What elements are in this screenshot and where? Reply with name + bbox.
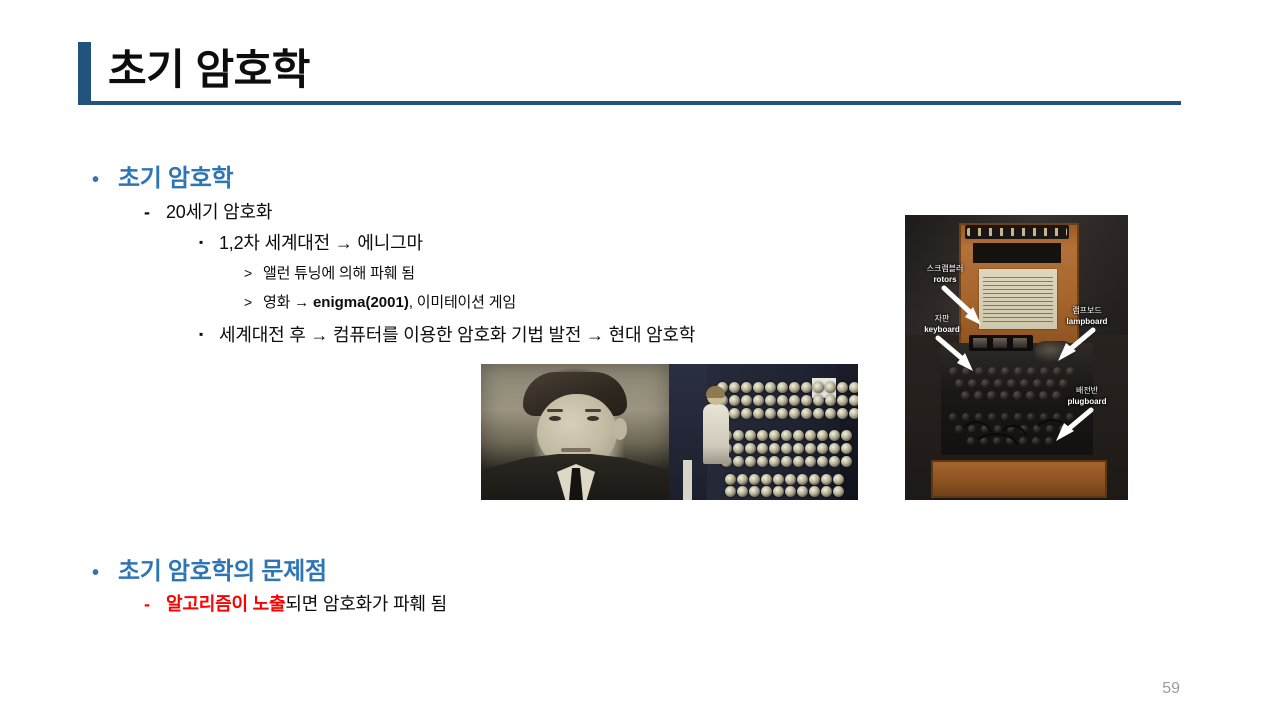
bombe-drum bbox=[829, 456, 840, 467]
enigma-key bbox=[968, 379, 977, 388]
bombe-drum bbox=[825, 408, 836, 419]
enigma-key bbox=[1007, 379, 1016, 388]
bombe-drum bbox=[793, 456, 804, 467]
annotation-keyboard: 자판 keyboard bbox=[905, 313, 983, 335]
outline-item-label: 초기 암호학 bbox=[118, 165, 233, 192]
image-bombe-machine bbox=[669, 364, 858, 500]
bombe-drum bbox=[801, 395, 812, 406]
enigma-rotor-3 bbox=[1013, 338, 1027, 348]
enigma-lid-black-panel bbox=[973, 243, 1061, 263]
enigma-instruction-text bbox=[983, 277, 1053, 325]
bombe-drum bbox=[789, 382, 800, 393]
enigma-key bbox=[988, 367, 997, 376]
bombe-drum bbox=[797, 486, 808, 497]
bombe-drum bbox=[773, 486, 784, 497]
enigma-front-wood-panel bbox=[931, 460, 1107, 498]
enigma-plug-socket bbox=[1001, 413, 1009, 421]
annotation-rotors-en: rotors bbox=[905, 274, 987, 285]
bombe-drum bbox=[817, 443, 828, 454]
enigma-key bbox=[1013, 391, 1022, 400]
bombe-drum bbox=[841, 443, 852, 454]
outline-item-l3-world-wars-enigma: ▪1,2차 세계대전 → 에니그마 bbox=[199, 232, 423, 255]
arrow-to-keyboard-icon bbox=[935, 335, 979, 373]
bombe-drum bbox=[769, 456, 780, 467]
enigma-plug-socket bbox=[975, 413, 983, 421]
outline-item-l1-early-crypto-problem: •초기 암호학의 문제점 bbox=[92, 557, 327, 587]
bombe-drum bbox=[849, 382, 858, 393]
bombe-drum bbox=[817, 456, 828, 467]
bombe-drum bbox=[829, 443, 840, 454]
bombe-drum bbox=[801, 382, 812, 393]
bombe-drum bbox=[829, 430, 840, 441]
enigma-key bbox=[955, 379, 964, 388]
enigma-key bbox=[961, 391, 970, 400]
bombe-drum bbox=[741, 395, 752, 406]
annotation-lampboard: 램프보드 lampboard bbox=[1044, 305, 1128, 327]
outline-item-l2-20c-encryption: -20세기 암호화 bbox=[144, 201, 272, 224]
enigma-key bbox=[1066, 367, 1075, 376]
bullet-dash-icon: - bbox=[144, 593, 166, 616]
bombe-drum bbox=[781, 443, 792, 454]
outline-item-label-prefix: 영화 → bbox=[263, 294, 313, 311]
bullet-square-icon: ▪ bbox=[199, 327, 219, 342]
portrait-ear bbox=[613, 418, 627, 440]
bombe-drum bbox=[777, 382, 788, 393]
outline-item-label: 초기 암호학의 문제점 bbox=[118, 558, 327, 585]
enigma-key bbox=[1020, 379, 1029, 388]
bombe-drum bbox=[761, 486, 772, 497]
portrait-brow-left bbox=[547, 409, 563, 412]
bombe-drum bbox=[821, 474, 832, 485]
outline-item-l1-early-crypto: •초기 암호학 bbox=[92, 164, 233, 194]
bombe-drum bbox=[797, 474, 808, 485]
enigma-plug-socket bbox=[1014, 413, 1022, 421]
outline-item-label-suffix: , 이미테이션 게임 bbox=[409, 294, 516, 311]
enigma-plug-socket bbox=[1027, 413, 1035, 421]
bombe-drum bbox=[813, 408, 824, 419]
bombe-drum bbox=[821, 486, 832, 497]
bombe-drum bbox=[837, 395, 848, 406]
bombe-drum bbox=[725, 474, 736, 485]
annotation-lampboard-en: lampboard bbox=[1044, 316, 1128, 327]
bombe-drum bbox=[757, 456, 768, 467]
outline-item-l4-movies: >영화 → enigma(2001), 이미테이션 게임 bbox=[244, 294, 516, 313]
bombe-stand bbox=[683, 460, 692, 500]
bombe-drum bbox=[813, 395, 824, 406]
bombe-drum bbox=[745, 456, 756, 467]
enigma-lid-contacts bbox=[967, 228, 1067, 236]
bombe-drum bbox=[733, 430, 744, 441]
enigma-key bbox=[981, 379, 990, 388]
bombe-drum bbox=[781, 456, 792, 467]
outline-item-label: 20세기 암호화 bbox=[166, 202, 272, 222]
bombe-drum bbox=[805, 456, 816, 467]
bullet-dash-icon: - bbox=[144, 201, 166, 224]
bombe-drum bbox=[773, 474, 784, 485]
bombe-drum bbox=[801, 408, 812, 419]
bullet-square-icon: ▪ bbox=[199, 235, 219, 250]
image-enigma-machine: 스크램블러 rotors 자판 keyboard 램프보드 lampboard … bbox=[905, 215, 1128, 500]
bombe-drum bbox=[741, 382, 752, 393]
enigma-plug-socket bbox=[962, 413, 970, 421]
bombe-drum bbox=[789, 395, 800, 406]
bombe-drum bbox=[805, 443, 816, 454]
bombe-drum bbox=[817, 430, 828, 441]
outline-item-label: 1,2차 세계대전 → 에니그마 bbox=[219, 233, 423, 253]
bombe-drum bbox=[741, 408, 752, 419]
bombe-drum bbox=[745, 430, 756, 441]
outline-item-l3-postwar-modern-crypto: ▪세계대전 후 → 컴퓨터를 이용한 암호화 기법 발전 → 현대 암호학 bbox=[199, 324, 695, 347]
enigma-rotor-2 bbox=[993, 338, 1007, 348]
arrow-to-lampboard-icon bbox=[1054, 327, 1096, 363]
outline-item-l4-broken-by-turing: >앨런 튜닝에 의해 파훼 됨 bbox=[244, 265, 415, 284]
bombe-drum bbox=[765, 395, 776, 406]
bombe-drum bbox=[785, 486, 796, 497]
bombe-drum bbox=[757, 443, 768, 454]
bullet-dot-icon: • bbox=[92, 168, 118, 193]
bombe-drum bbox=[769, 430, 780, 441]
outline-item-label: 앨런 튜닝에 의해 파훼 됨 bbox=[263, 265, 415, 282]
portrait-brow-right bbox=[585, 409, 601, 412]
bombe-drum bbox=[833, 486, 844, 497]
enigma-key bbox=[1001, 367, 1010, 376]
enigma-key bbox=[1014, 367, 1023, 376]
image-alan-turing-portrait bbox=[481, 364, 669, 500]
annotation-keyboard-ko: 자판 bbox=[905, 313, 983, 324]
outline-item-label: 세계대전 후 → 컴퓨터를 이용한 암호화 기법 발전 → 현대 암호학 bbox=[219, 325, 695, 345]
bombe-drum bbox=[765, 382, 776, 393]
bombe-drum bbox=[733, 443, 744, 454]
bombe-drum bbox=[789, 408, 800, 419]
bombe-operator bbox=[703, 388, 733, 474]
bombe-drum bbox=[805, 430, 816, 441]
bombe-drum bbox=[753, 408, 764, 419]
bombe-drum bbox=[833, 474, 844, 485]
bombe-drum bbox=[793, 430, 804, 441]
bombe-drum bbox=[745, 443, 756, 454]
operator-hair bbox=[706, 386, 725, 398]
enigma-key bbox=[1040, 367, 1049, 376]
portrait-eye-right bbox=[587, 416, 599, 421]
outline-item-label-emphasis: 알고리즘이 노출 bbox=[166, 594, 285, 614]
enigma-key bbox=[974, 391, 983, 400]
enigma-plug-socket bbox=[988, 413, 996, 421]
bombe-drum bbox=[749, 474, 760, 485]
bullet-angle-icon: > bbox=[244, 265, 263, 283]
bombe-drum bbox=[793, 443, 804, 454]
page-number: 59 bbox=[1162, 680, 1180, 698]
bullet-dot-icon: • bbox=[92, 561, 118, 586]
outline-item-label-emphasis: enigma(2001) bbox=[313, 294, 409, 311]
bombe-drum bbox=[785, 474, 796, 485]
bombe-drum bbox=[781, 430, 792, 441]
bombe-drum bbox=[825, 382, 836, 393]
bombe-drum bbox=[733, 456, 744, 467]
bombe-drum bbox=[813, 382, 824, 393]
bombe-drum bbox=[749, 486, 760, 497]
enigma-key bbox=[1053, 367, 1062, 376]
bombe-drum bbox=[841, 456, 852, 467]
annotation-plugboard-ko: 배전반 bbox=[1044, 385, 1128, 396]
bombe-drum bbox=[849, 408, 858, 419]
enigma-key bbox=[1026, 391, 1035, 400]
bombe-drum bbox=[725, 486, 736, 497]
annotation-plugboard-en: plugboard bbox=[1044, 396, 1128, 407]
enigma-key bbox=[1027, 367, 1036, 376]
bombe-drum bbox=[753, 382, 764, 393]
bombe-drum bbox=[761, 474, 772, 485]
annotation-rotors-ko: 스크램블러 bbox=[905, 263, 987, 274]
bombe-drum bbox=[757, 430, 768, 441]
operator-body bbox=[703, 404, 729, 464]
enigma-key bbox=[987, 391, 996, 400]
bombe-drum bbox=[837, 382, 848, 393]
annotation-plugboard: 배전반 plugboard bbox=[1044, 385, 1128, 407]
enigma-key bbox=[1033, 379, 1042, 388]
annotation-lampboard-ko: 램프보드 bbox=[1044, 305, 1128, 316]
bullet-angle-icon: > bbox=[244, 294, 263, 312]
bombe-drum bbox=[765, 408, 776, 419]
bombe-drum bbox=[825, 395, 836, 406]
annotation-rotors: 스크램블러 rotors bbox=[905, 263, 987, 285]
bombe-drum bbox=[737, 486, 748, 497]
bombe-drum bbox=[837, 408, 848, 419]
outline-item-label-suffix: 되면 암호화가 파훼 됨 bbox=[285, 594, 447, 614]
bombe-drum bbox=[737, 474, 748, 485]
portrait-eye-left bbox=[549, 416, 561, 421]
bombe-drum bbox=[841, 430, 852, 441]
arrow-to-plugboard-icon bbox=[1052, 407, 1094, 443]
bombe-drum bbox=[777, 408, 788, 419]
bombe-drum bbox=[769, 443, 780, 454]
enigma-plug-socket bbox=[949, 413, 957, 421]
outline-item-l2-algorithm-exposure: -알고리즘이 노출되면 암호화가 파훼 됨 bbox=[144, 593, 447, 616]
enigma-key bbox=[994, 379, 1003, 388]
portrait-mouth bbox=[561, 448, 591, 452]
bombe-drum bbox=[777, 395, 788, 406]
bombe-drum bbox=[809, 486, 820, 497]
annotation-keyboard-en: keyboard bbox=[905, 324, 983, 335]
bombe-drum bbox=[849, 395, 858, 406]
bombe-drum bbox=[753, 395, 764, 406]
bombe-drum bbox=[809, 474, 820, 485]
enigma-key bbox=[1000, 391, 1009, 400]
